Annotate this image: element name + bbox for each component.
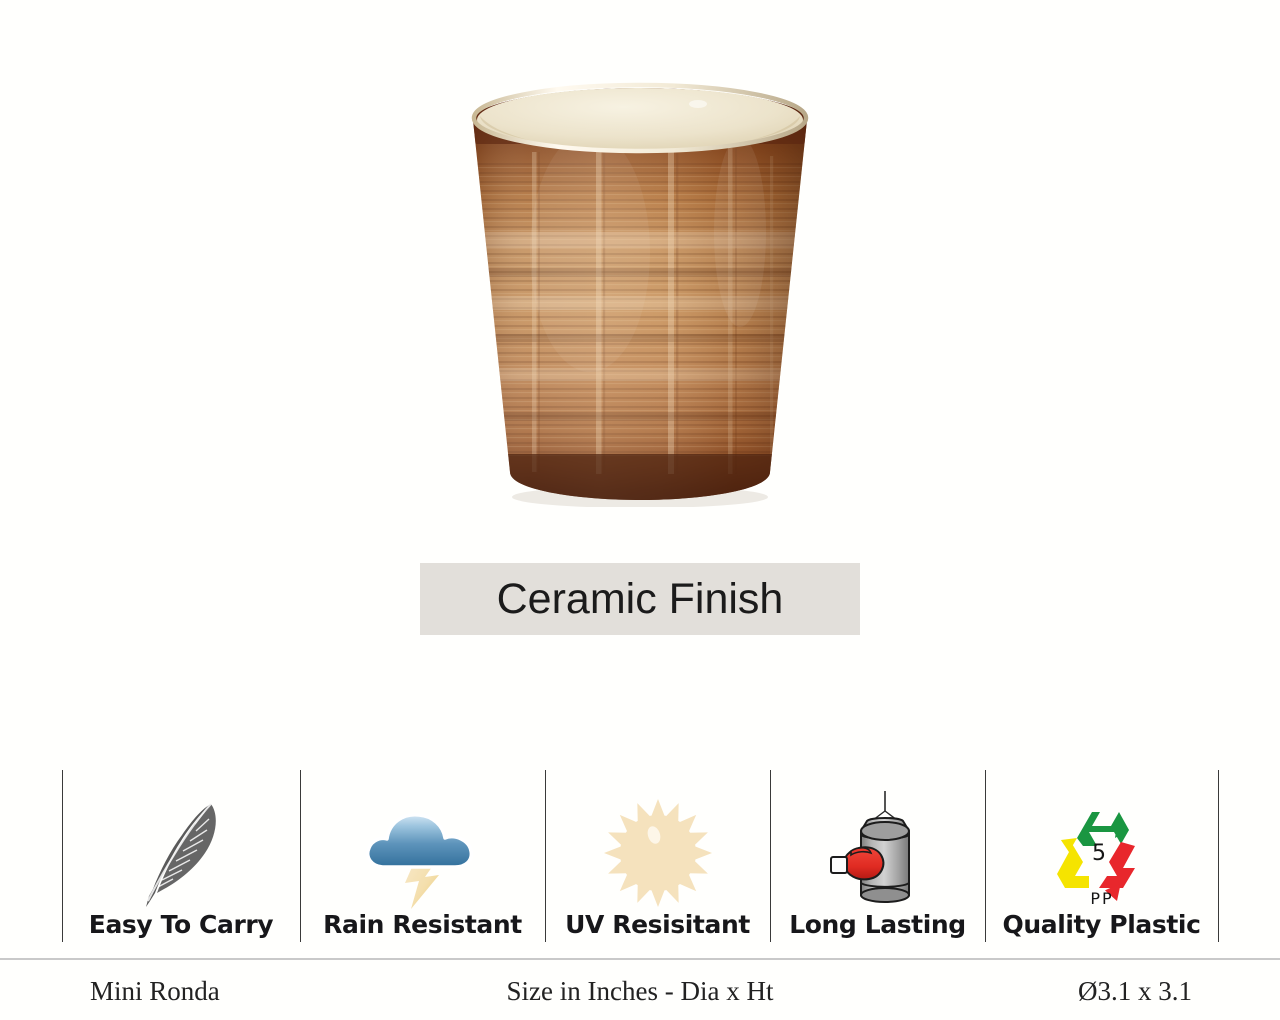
feature-easy-to-carry: Easy To Carry [62,768,300,943]
rain-cloud-icon [359,794,487,912]
feature-label: Rain Resistant [323,912,522,943]
product-dimensions: Ø3.1 x 3.1 [1078,976,1192,1007]
product-photo [440,82,840,507]
punching-bag-icon [823,794,933,912]
feature-label: Quality Plastic [1003,912,1201,943]
recycle-material: PP [1090,889,1113,908]
feature-divider [1218,770,1219,942]
feature-long-lasting: Long Lasting [770,768,985,943]
feature-label: Easy To Carry [89,912,273,943]
footer-divider-rule [0,958,1280,960]
product-image-stage [0,0,1280,540]
ceramic-pot-illustration [440,82,840,507]
recycle-pp-icon: 5 PP [1043,794,1161,912]
sun-icon [598,794,718,912]
feather-icon [133,794,229,912]
footer: Mini Ronda Size in Inches - Dia x Ht Ø3.… [0,962,1280,1020]
feature-label: UV Resisitant [565,912,750,943]
finish-banner-label: Ceramic Finish [497,575,784,624]
recycle-code: 5 [1092,841,1106,866]
feature-rain-resistant: Rain Resistant [300,768,545,943]
feature-label: Long Lasting [789,912,966,943]
feature-quality-plastic: 5 PP Quality Plastic [985,768,1218,943]
feature-uv-resistant: UV Resisitant [545,768,770,943]
feature-row: Easy To Carry [0,768,1280,943]
finish-banner: Ceramic Finish [420,563,860,635]
